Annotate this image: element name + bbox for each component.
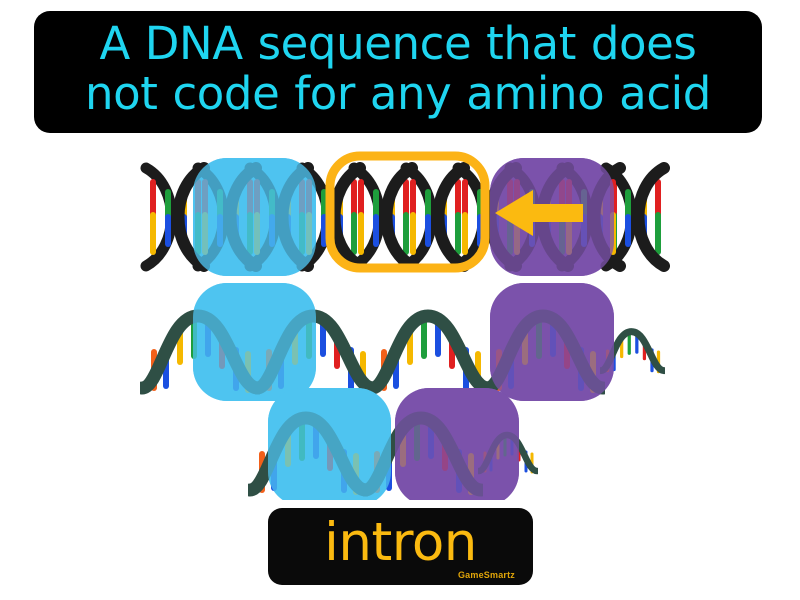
- term-text: intron: [268, 514, 533, 572]
- exon-veil-blue-row3: [268, 388, 391, 500]
- exon-veil-blue-row2: [193, 283, 316, 401]
- term-box: intron GameSmartz: [268, 508, 533, 585]
- definition-line-2: not code for any amino acid: [85, 67, 711, 120]
- row-spliced-mrna: [250, 388, 537, 500]
- row-pre-transcription-dna: [146, 156, 664, 276]
- watermark-gamesmartz: GameSmartz: [458, 570, 515, 580]
- exon-veil-purple-row3: [395, 388, 519, 500]
- exon-veil-purple-row2: [490, 283, 614, 401]
- definition-text: A DNA sequence that does not code for an…: [85, 19, 711, 120]
- definition-box: A DNA sequence that does not code for an…: [34, 11, 762, 133]
- flashcard: A DNA sequence that does not code for an…: [0, 0, 800, 600]
- exon-veil-blue-row1: [193, 158, 316, 276]
- row-pre-mrna-transcript: [142, 283, 664, 401]
- rna-splicing-illustration: [0, 140, 800, 500]
- definition-line-1: A DNA sequence that does: [100, 17, 697, 70]
